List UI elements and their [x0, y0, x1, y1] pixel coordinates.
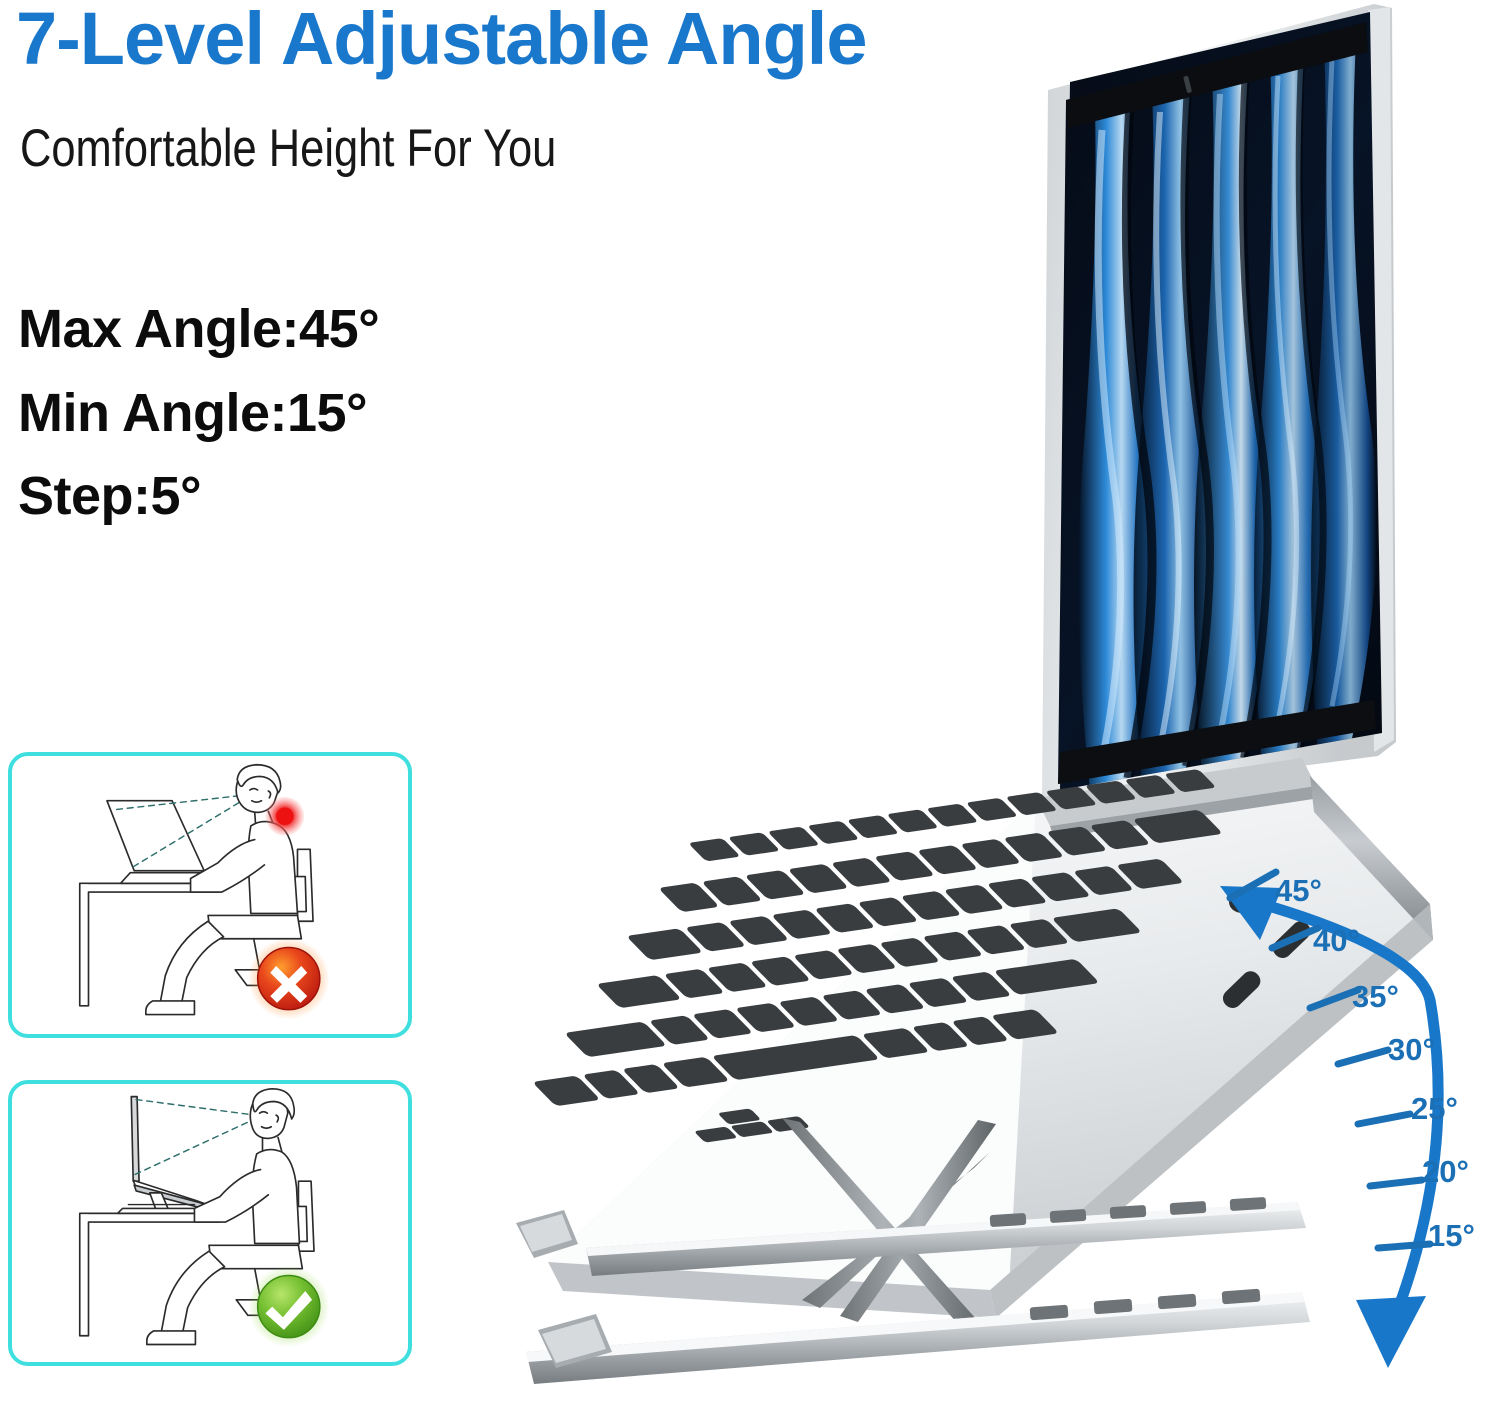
- spec-list: Max Angle:45° Min Angle:15° Step:5°: [18, 288, 379, 539]
- angle-label-25: 25°: [1411, 1091, 1458, 1127]
- tick-20: [1370, 1180, 1422, 1186]
- angle-label-35: 35°: [1352, 979, 1399, 1015]
- bad-posture-panel: [8, 752, 412, 1038]
- tick-15: [1378, 1244, 1430, 1248]
- good-posture-panel: [8, 1080, 412, 1366]
- tick-25: [1358, 1114, 1410, 1124]
- product-feature-image: 7-Level Adjustable Angle Comfortable Hei…: [0, 0, 1489, 1401]
- angle-arrow-head-bottom: [1356, 1296, 1426, 1368]
- cross-badge: [248, 938, 330, 1020]
- tick-30: [1338, 1050, 1388, 1064]
- angle-label-20: 20°: [1422, 1154, 1469, 1190]
- angle-label-40: 40°: [1313, 923, 1360, 959]
- spec-min-angle: Min Angle:15°: [18, 372, 379, 456]
- angle-label-30: 30°: [1388, 1032, 1435, 1068]
- product-photo: 45° 40° 35° 30° 25° 20° 15°: [430, 0, 1489, 1401]
- angle-label-15: 15°: [1428, 1218, 1475, 1254]
- spec-max-angle: Max Angle:45°: [18, 288, 379, 372]
- check-badge: [248, 1266, 330, 1348]
- laptop-screen: [1030, 0, 1430, 800]
- angle-label-45: 45°: [1275, 873, 1322, 909]
- spec-step: Step:5°: [18, 455, 379, 539]
